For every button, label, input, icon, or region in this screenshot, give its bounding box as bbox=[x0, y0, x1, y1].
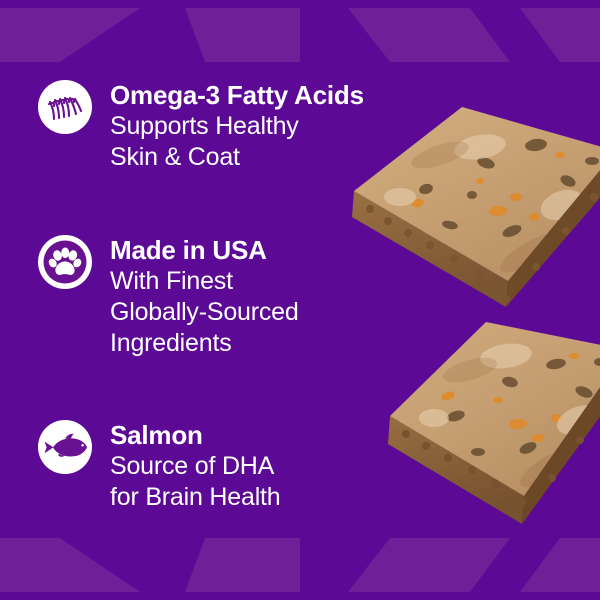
feature-line: for Brain Health bbox=[110, 482, 281, 513]
feature-line: Skin & Coat bbox=[110, 142, 364, 173]
feature-item-omega-3: Omega-3 Fatty Acids Supports Healthy Ski… bbox=[36, 78, 364, 173]
feature-item-salmon: Salmon Source of DHA for Brain Health bbox=[36, 418, 281, 513]
feature-title: Made in USA bbox=[110, 235, 299, 266]
feature-line: Ingredients bbox=[110, 328, 299, 359]
feature-line: Supports Healthy bbox=[110, 111, 364, 142]
salmon-fish-icon bbox=[36, 418, 94, 476]
feature-item-made-in-usa: Made in USA With Finest Globally-Sourced… bbox=[36, 233, 299, 359]
feature-title: Salmon bbox=[110, 420, 281, 451]
feature-line: Source of DHA bbox=[110, 451, 281, 482]
feature-line: With Finest bbox=[110, 266, 299, 297]
feature-list: Omega-3 Fatty Acids Supports Healthy Ski… bbox=[0, 0, 600, 600]
hair-strands-icon bbox=[36, 78, 94, 136]
product-feature-panel: Omega-3 Fatty Acids Supports Healthy Ski… bbox=[0, 0, 600, 600]
feature-title: Omega-3 Fatty Acids bbox=[110, 80, 364, 111]
feature-line: Globally-Sourced bbox=[110, 297, 299, 328]
paw-print-icon bbox=[36, 233, 94, 291]
